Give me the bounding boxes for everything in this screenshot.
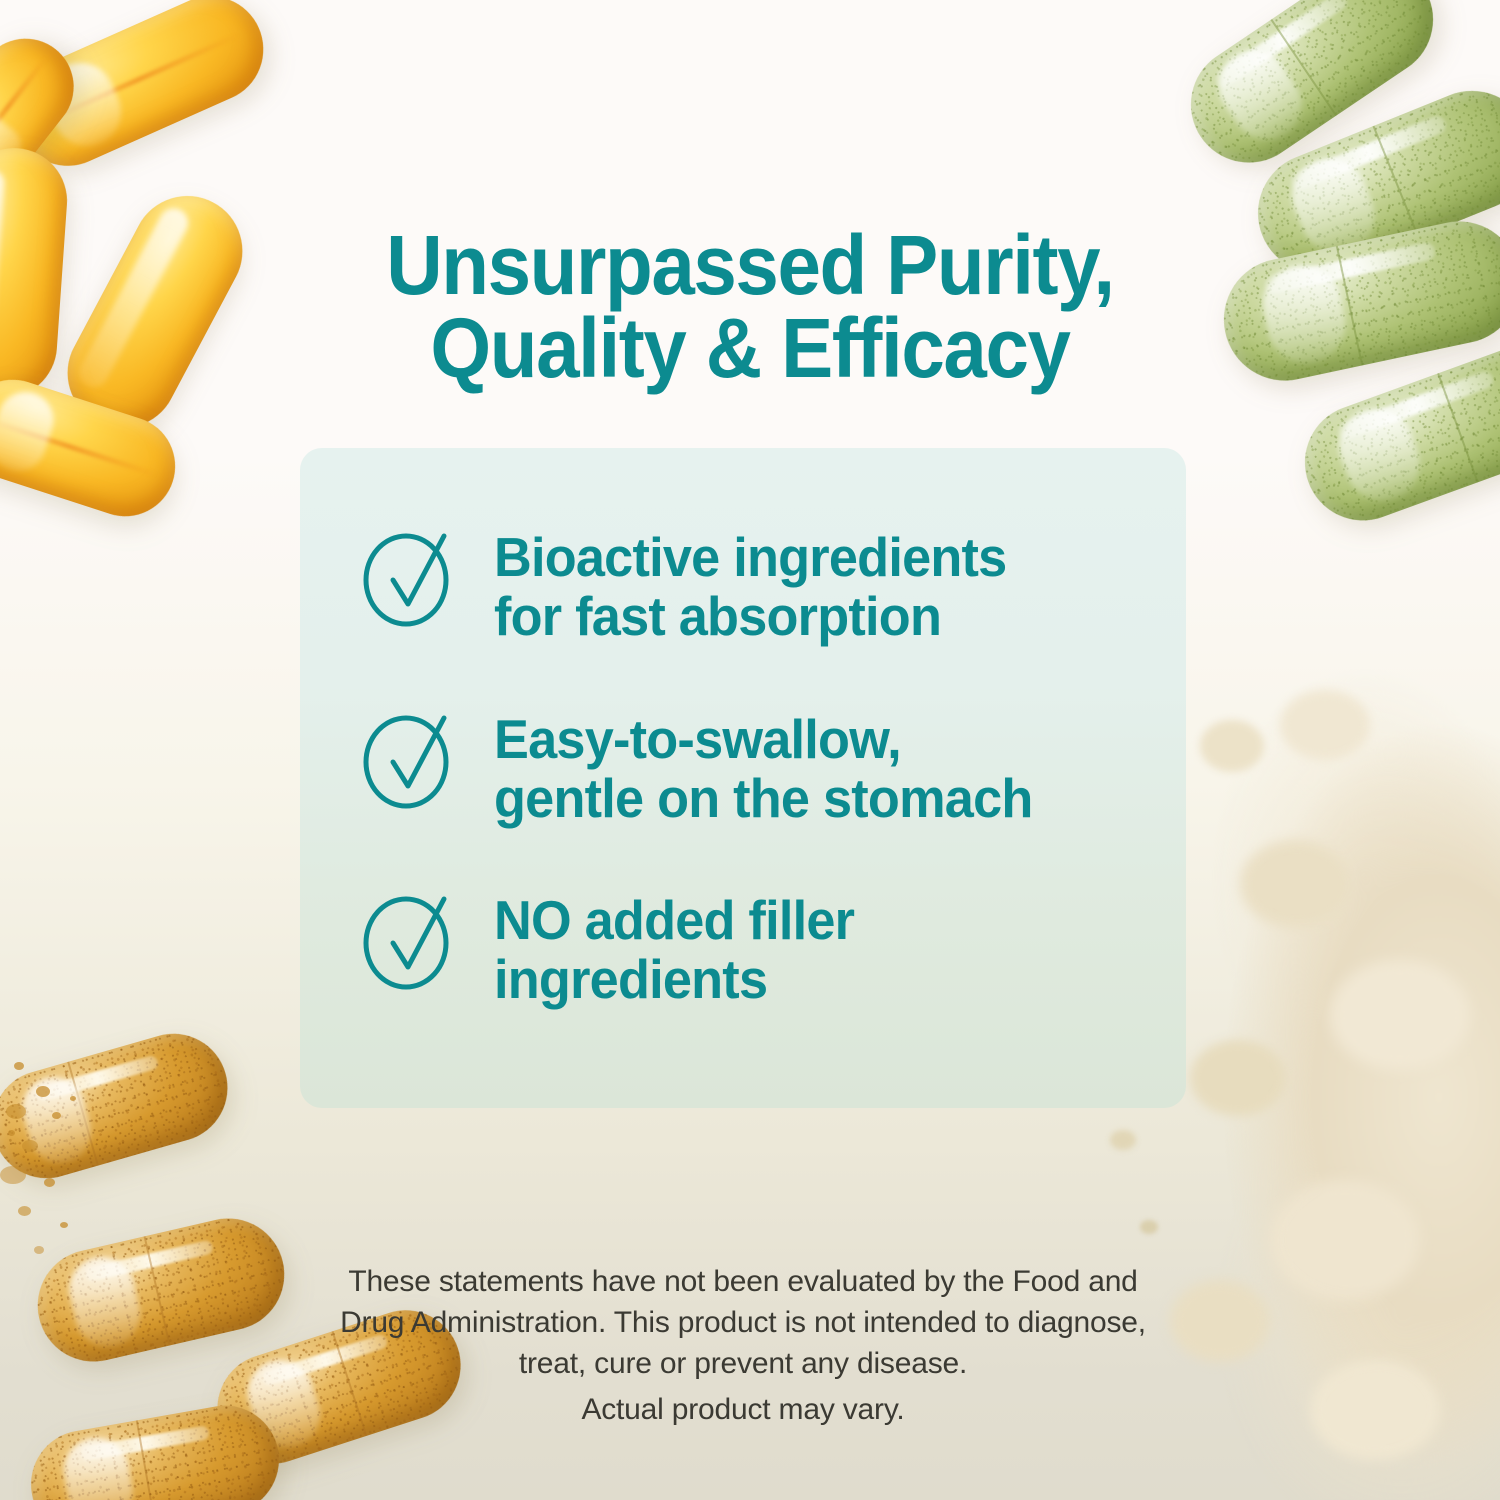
benefit-label: Bioactive ingredients for fast absorptio… [494,520,1006,646]
page-title: Unsurpassed Purity, Quality & Efficacy [332,224,1169,390]
softgel-capsule [0,145,71,402]
check-circle-icon [356,885,464,993]
turmeric-capsule [27,1207,296,1372]
fda-disclaimer: These statements have not been evaluated… [300,1262,1186,1384]
product-infographic: Unsurpassed Purity, Quality & Efficacy B… [0,0,1500,1500]
product-variation-note: Actual product may vary. [300,1393,1186,1427]
herbal-capsule [1289,331,1500,536]
check-circle-icon [356,704,464,812]
softgel-capsule [0,19,93,196]
softgel-capsule [0,0,280,183]
benefits-card: Bioactive ingredients for fast absorptio… [300,448,1186,1108]
herbal-capsule [1240,73,1500,291]
benefit-label: Easy-to-swallow, gentle on the stomach [494,702,1033,828]
herbal-capsule [1213,210,1500,392]
turmeric-capsule [23,1397,288,1500]
herbal-capsule [1168,0,1455,185]
benefit-label: NO added filler ingredients [494,883,854,1009]
softgel-capsule [48,177,262,448]
benefit-item: Bioactive ingredients for fast absorptio… [356,520,1146,646]
benefit-item: NO added filler ingredients [356,883,1146,1009]
benefit-item: Easy-to-swallow, gentle on the stomach [356,702,1146,828]
check-circle-icon [356,522,464,630]
softgel-capsule [0,367,188,529]
turmeric-capsule [0,1021,240,1191]
